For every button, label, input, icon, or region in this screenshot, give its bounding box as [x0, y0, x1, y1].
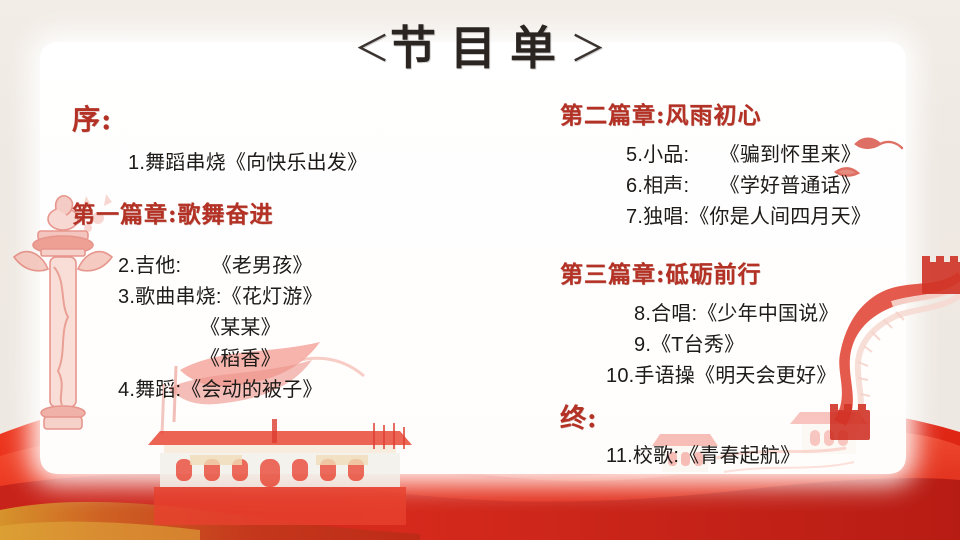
section-heading-chapter-two: 第二篇章:风雨初心: [560, 96, 920, 130]
program-item: 2.吉他: 《老男孩》: [72, 251, 422, 282]
program-item: 10.手语操《明天会更好》: [560, 361, 920, 392]
section-heading-prelude: 序:: [72, 98, 422, 138]
title-bracket-left: ＜: [354, 28, 390, 69]
program-item: 11.校歌:《青春起航》: [560, 441, 920, 472]
program-item: 4.舞蹈:《会动的被子》: [72, 375, 422, 406]
program-item: 7.独唱:《你是人间四月天》: [560, 202, 920, 233]
program-item: 《某某》: [72, 313, 422, 344]
section-heading-finale: 终:: [560, 398, 920, 435]
program-item: 9.《T台秀》: [560, 330, 920, 361]
program-item: 3.歌曲串烧:《花灯游》: [72, 282, 422, 313]
program-item: 8.合唱:《少年中国说》: [560, 299, 920, 330]
program-item: 1.舞蹈串烧《向快乐出发》: [72, 148, 422, 179]
left-column: 序: 1.舞蹈串烧《向快乐出发》 第一篇章:歌舞奋进 2.吉他: 《老男孩》 3…: [72, 98, 422, 406]
title-bracket-right: ＞: [570, 28, 606, 69]
section-heading-chapter-three: 第三篇章:砥砺前行: [560, 255, 920, 289]
program-item: 《稻香》: [72, 344, 422, 375]
poster-title-wrap: ＜节目单＞: [0, 12, 960, 78]
title-text: 节目单: [390, 21, 570, 75]
program-item: 5.小品: 《骗到怀里来》: [560, 140, 920, 171]
page-title: ＜节目单＞: [354, 12, 606, 78]
poster-canvas: ＜节目单＞ 序: 1.舞蹈串烧《向快乐出发》 第一篇章:歌舞奋进 2.吉他: 《…: [0, 0, 960, 540]
right-column: 第二篇章:风雨初心 5.小品: 《骗到怀里来》 6.相声: 《学好普通话》 7.…: [560, 96, 920, 472]
section-heading-chapter-one: 第一篇章:歌舞奋进: [72, 195, 422, 229]
program-item: 6.相声: 《学好普通话》: [560, 171, 920, 202]
